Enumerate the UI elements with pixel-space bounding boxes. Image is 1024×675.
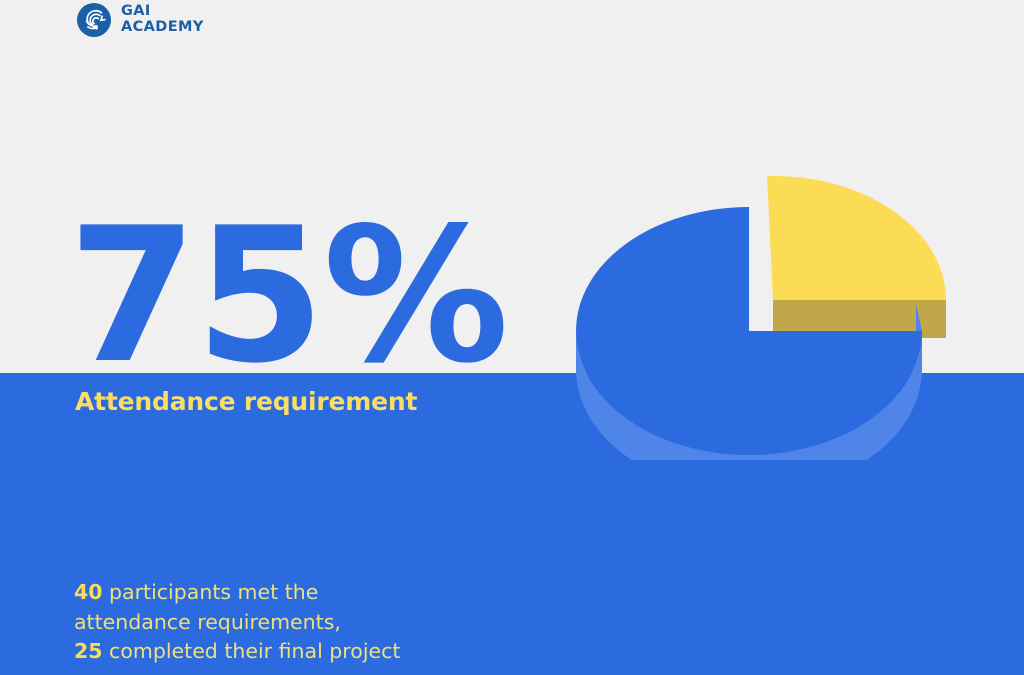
caption-count-completed: 25 [74, 639, 103, 663]
pie-chart [520, 110, 960, 460]
caption-line-1: 40 participants met the [74, 578, 400, 608]
caption-count-participants: 40 [74, 580, 103, 604]
brand-wordmark: GAI ACADEMY [121, 4, 204, 35]
caption-line-2: attendance requirements, [74, 608, 400, 638]
stat-label: Attendance requirement [75, 387, 417, 416]
brand-line-2: ACADEMY [121, 20, 204, 36]
pie-chart-svg [520, 110, 960, 460]
brand-line-1: GAI [121, 4, 204, 20]
stat-percentage: 75% [68, 203, 507, 389]
caption-line-1-rest: participants met the [103, 580, 319, 604]
caption-line-3: 25 completed their final project [74, 637, 400, 667]
caption-line-3-rest: completed their final project [103, 639, 401, 663]
caption-text: 40 participants met the attendance requi… [74, 578, 400, 667]
infographic-canvas: GAI ACADEMY 75% Attendance requirement 4… [0, 0, 1024, 675]
pie-slice-completed [767, 176, 946, 338]
brain-spiral-logo-icon [76, 2, 112, 38]
brand-logo: GAI ACADEMY [76, 2, 204, 38]
